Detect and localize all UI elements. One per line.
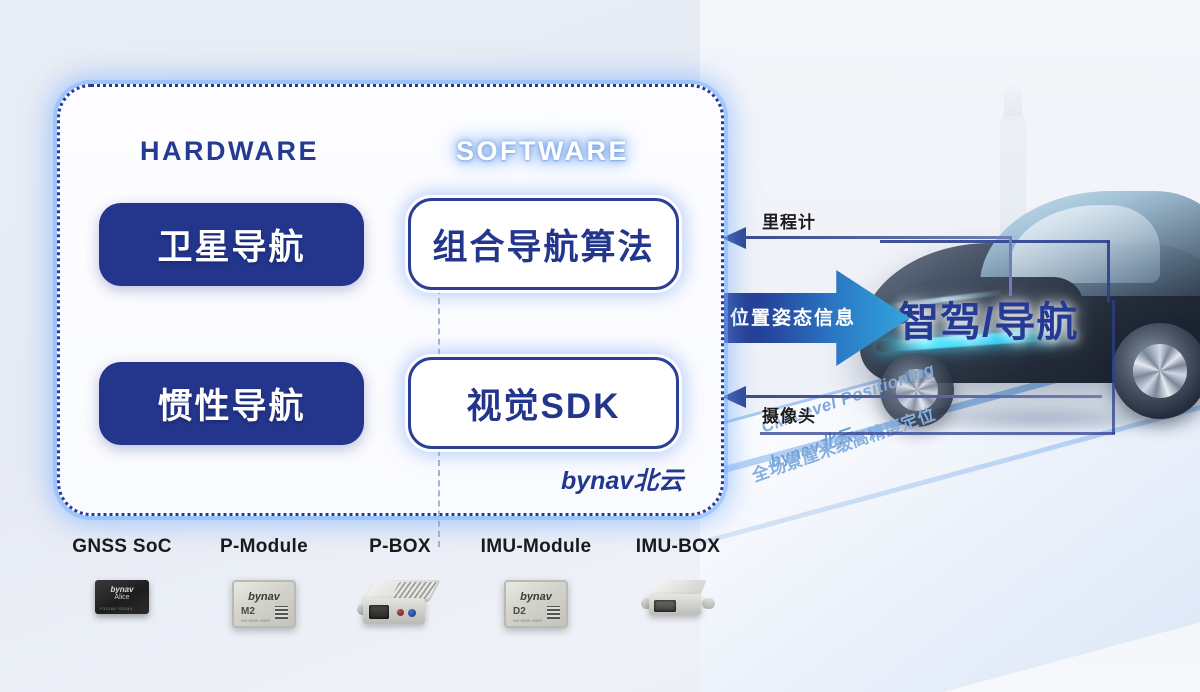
module-brand: bynav — [506, 591, 566, 603]
product-name: P-Module — [194, 536, 334, 558]
destination-label: 智驾/导航 — [898, 288, 1078, 348]
hardware-tile-satellite-navigation[interactable]: 卫星导航 — [99, 203, 364, 286]
frame-line-bottom — [760, 432, 1115, 435]
imubox-connector — [654, 600, 676, 612]
software-tile-vision-sdk[interactable]: 视觉SDK — [408, 357, 679, 449]
arrow-riser — [1009, 236, 1012, 296]
software-tile-integrated-navigation-algorithm[interactable]: 组合导航算法 — [408, 198, 679, 290]
pbox-antenna-red — [397, 609, 404, 616]
module-icon: bynav M2 SN 0000 0000 — [232, 580, 296, 628]
product-p-box[interactable]: P-BOX — [330, 536, 470, 628]
column-title-hardware: HARDWARE — [140, 136, 319, 167]
qr-code-icon — [275, 606, 288, 619]
product-name: P-BOX — [330, 536, 470, 558]
tile-label: 组合导航算法 — [432, 219, 654, 270]
car-wheel-rear — [1112, 323, 1200, 419]
pbox-connector-port — [369, 605, 389, 619]
hardware-tile-inertial-navigation[interactable]: 惯性导航 — [99, 362, 364, 445]
imubox-icon — [647, 580, 709, 620]
chip-brand: bynav — [95, 585, 149, 594]
brand-logo: bynav北云 — [561, 461, 683, 497]
product-imu-box[interactable]: IMU-BOX — [608, 536, 748, 620]
module-code: SN 0000 0000 — [241, 618, 270, 623]
product-image-gnss-soc: bynav Alice F32288 *53044 — [95, 580, 149, 614]
chip-model: Alice — [95, 594, 149, 601]
imubox-mount-ear — [702, 598, 715, 609]
product-image-imu-box — [647, 580, 709, 620]
feedback-label-camera: 摄像头 — [762, 402, 816, 427]
module-icon: bynav D2 SN 0000 0000 — [504, 580, 568, 628]
arrow-head-icon — [722, 386, 746, 408]
product-name: GNSS SoC — [52, 536, 192, 558]
product-imu-module[interactable]: IMU-Module bynav D2 SN 0000 0000 — [456, 536, 616, 628]
qr-code-icon — [547, 606, 560, 619]
arrow-line — [744, 236, 1012, 239]
product-image-p-module: bynav M2 SN 0000 0000 — [232, 580, 296, 628]
product-p-module[interactable]: P-Module bynav M2 SN 0000 0000 — [194, 536, 334, 628]
tile-label: 惯性导航 — [157, 378, 305, 429]
module-model: M2 — [241, 606, 255, 617]
arrow-line — [744, 395, 1102, 398]
module-brand: bynav — [234, 591, 294, 603]
product-name: IMU-Module — [456, 536, 616, 558]
product-gnss-soc[interactable]: GNSS SoC bynav Alice F32288 *53044 — [52, 536, 192, 614]
chip-icon: bynav Alice F32288 *53044 — [95, 580, 149, 614]
tile-label: 视觉SDK — [467, 378, 621, 429]
pbox-icon — [361, 580, 439, 628]
product-image-imu-module: bynav D2 SN 0000 0000 — [504, 580, 568, 628]
product-name: IMU-BOX — [608, 536, 748, 558]
module-model: D2 — [513, 606, 526, 617]
frame-line-bottom-riser — [1112, 300, 1115, 434]
chip-code: F32288 *53044 — [100, 606, 133, 611]
module-code: SN 0000 0000 — [513, 618, 542, 623]
tile-label: 卫星导航 — [157, 219, 305, 270]
product-image-p-box — [361, 580, 439, 628]
column-title-software: SOFTWARE — [456, 136, 629, 167]
frame-line-top-riser — [1107, 240, 1110, 302]
pbox-antenna-blue — [408, 609, 416, 617]
product-strip: GNSS SoC bynav Alice F32288 *53044 P-Mod… — [52, 536, 728, 656]
output-flow-label: 位置姿态信息 — [730, 303, 856, 330]
arrow-head-icon — [722, 227, 746, 249]
feedback-label-odometer: 里程计 — [762, 208, 816, 233]
